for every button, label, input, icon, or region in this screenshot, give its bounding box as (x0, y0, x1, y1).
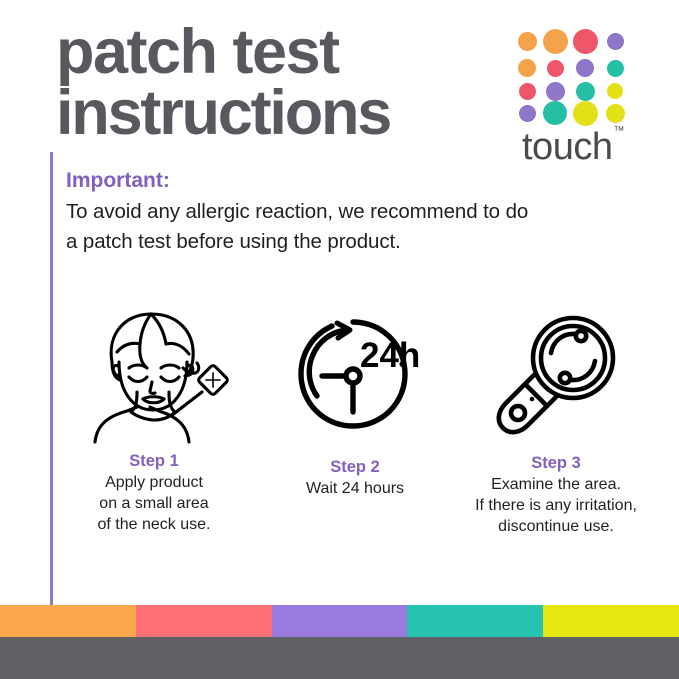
step-item-3: Step 3 Examine the area. If there is any… (457, 306, 655, 537)
logo-dot-r1-c1 (518, 32, 537, 51)
intro-title: Important: (66, 168, 646, 194)
logo-dot-grid-icon (516, 30, 624, 122)
logo-dot-r2-c2 (547, 60, 564, 77)
accent-vertical-rule (50, 152, 53, 605)
logo-dot-r4-c3 (573, 101, 598, 126)
color-band-orange (0, 605, 136, 637)
step-caption-1-line-2: on a small area (55, 494, 253, 515)
logo-dot-r4-c2 (543, 101, 567, 125)
bottom-color-bar (0, 605, 679, 637)
step-label-2: Step 2 (256, 458, 454, 477)
page-title: patch test instructions (56, 22, 506, 144)
logo-dot-r2-c1 (518, 59, 536, 77)
step-item-2: 24h Step 2 Wait 24 hours (256, 306, 454, 500)
magnifying-glass-skin-icon (457, 306, 655, 446)
step-caption-3-line-3: discontinue use. (457, 517, 655, 538)
face-with-hair-towel-and-patch-icon (55, 306, 253, 446)
step-caption-3-line-2: If there is any irritation, (457, 496, 655, 517)
steps-row: Step 1 Apply product on a small area of … (55, 306, 655, 537)
step-caption-1-line-1: Apply product (55, 473, 253, 494)
intro-body: To avoid any allergic reaction, we recom… (66, 197, 646, 256)
logo-dot-r2-c3 (576, 59, 594, 77)
step-label-3: Step 3 (457, 454, 655, 473)
logo-wordmark: touch™ (522, 128, 634, 166)
brand-logo: touch™ (516, 30, 634, 166)
step-caption-1-line-3: of the neck use. (55, 515, 253, 536)
logo-wordmark-text: touch (522, 126, 612, 168)
page-title-line-2: instructions (56, 83, 506, 144)
logo-dot-r1-c4 (607, 33, 624, 50)
color-band-teal (407, 605, 543, 637)
logo-dot-r1-c2 (543, 29, 568, 54)
logo-dot-r1-c3 (573, 29, 598, 54)
logo-dot-r3-c4 (607, 83, 623, 99)
step-item-1: Step 1 Apply product on a small area of … (55, 306, 253, 535)
logo-dot-r2-c4 (607, 60, 624, 77)
step-caption-1: Apply product on a small area of the nec… (55, 473, 253, 535)
page-title-line-1: patch test (56, 22, 506, 83)
intro-block: Important: To avoid any allergic reactio… (66, 168, 646, 257)
step-caption-2: Wait 24 hours (256, 479, 454, 500)
patch-test-instructions-page: patch test instructions touch™ Important… (0, 0, 679, 679)
trademark-symbol: ™ (613, 126, 624, 137)
color-band-coral-red (136, 605, 272, 637)
step-caption-3-line-1: Examine the area. (457, 475, 655, 496)
step-caption-3: Examine the area. If there is any irrita… (457, 475, 655, 537)
intro-body-line-2: a patch test before using the product. (66, 227, 646, 257)
logo-dot-r3-c3 (576, 82, 595, 101)
logo-dot-r4-c1 (519, 105, 536, 122)
intro-body-line-1: To avoid any allergic reaction, we recom… (66, 197, 646, 227)
color-band-yellow (543, 605, 679, 637)
logo-dot-r3-c1 (519, 83, 536, 100)
footer-bar (0, 637, 679, 679)
step-caption-2-line-1: Wait 24 hours (256, 479, 454, 500)
clock-24h-text: 24h (360, 336, 419, 375)
step-label-1: Step 1 (55, 452, 253, 471)
logo-dot-r4-c4 (606, 104, 625, 123)
color-band-purple (272, 605, 408, 637)
clock-24h-icon: 24h (256, 306, 454, 446)
logo-dot-r3-c2 (546, 82, 565, 101)
